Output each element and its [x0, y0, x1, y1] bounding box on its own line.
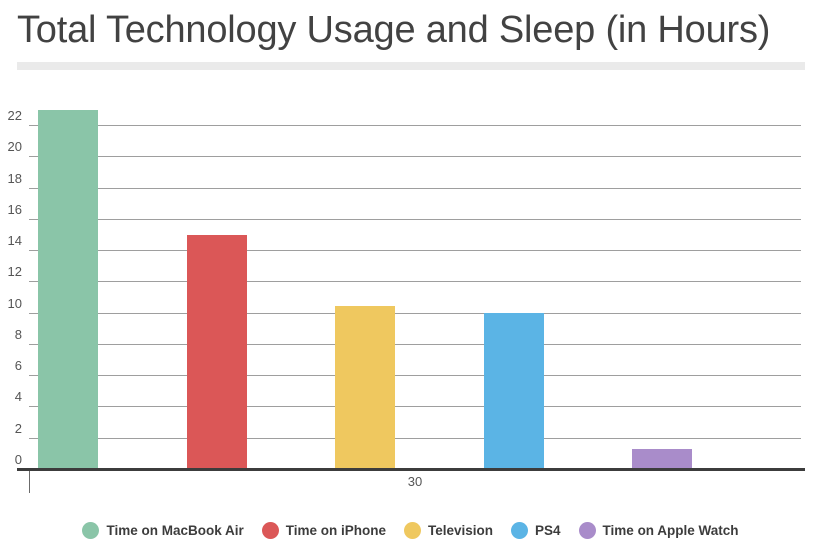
- y-axis-tick-label: 12: [8, 264, 22, 279]
- legend-item-label: Time on iPhone: [286, 523, 386, 538]
- y-axis-tick-label: 22: [8, 108, 22, 123]
- bar[interactable]: [632, 449, 692, 469]
- legend-item[interactable]: Time on iPhone: [262, 522, 386, 539]
- legend-swatch-icon: [404, 522, 421, 539]
- bar[interactable]: [484, 313, 544, 469]
- y-axis-tick-label: 6: [15, 358, 22, 373]
- legend-item[interactable]: Television: [404, 522, 493, 539]
- y-axis-tick-label: 14: [8, 233, 22, 248]
- chart-title: Total Technology Usage and Sleep (in Hou…: [17, 6, 807, 54]
- legend-item[interactable]: Time on MacBook Air: [82, 522, 243, 539]
- legend-item[interactable]: PS4: [511, 522, 561, 539]
- x-axis-line: [17, 468, 805, 471]
- legend-item-label: Television: [428, 523, 493, 538]
- legend-item-label: Time on Apple Watch: [603, 523, 739, 538]
- chart-legend: Time on MacBook AirTime on iPhoneTelevis…: [0, 516, 821, 544]
- bar-series-group: [29, 108, 801, 469]
- legend-item-label: Time on MacBook Air: [106, 523, 243, 538]
- legend-swatch-icon: [82, 522, 99, 539]
- y-axis-tick-label: 0: [15, 452, 22, 467]
- y-axis-tick-label: 20: [8, 139, 22, 154]
- legend-swatch-icon: [262, 522, 279, 539]
- bar[interactable]: [187, 235, 247, 469]
- y-axis-tick-label: 16: [8, 202, 22, 217]
- y-axis-tick-label: 8: [15, 327, 22, 342]
- legend-swatch-icon: [579, 522, 596, 539]
- x-axis-category-label: 30: [29, 474, 801, 489]
- bar[interactable]: [38, 110, 98, 469]
- legend-item-label: PS4: [535, 523, 561, 538]
- chart-container: Total Technology Usage and Sleep (in Hou…: [0, 0, 821, 553]
- y-axis-tick-label: 4: [15, 389, 22, 404]
- y-axis-tick-labels: 0246810121416182022: [0, 108, 29, 469]
- bar[interactable]: [335, 306, 395, 469]
- legend-item[interactable]: Time on Apple Watch: [579, 522, 739, 539]
- legend-swatch-icon: [511, 522, 528, 539]
- y-axis-tick-label: 2: [15, 421, 22, 436]
- y-axis-tick-label: 10: [8, 296, 22, 311]
- y-axis-tick-label: 18: [8, 171, 22, 186]
- title-divider: [17, 62, 805, 70]
